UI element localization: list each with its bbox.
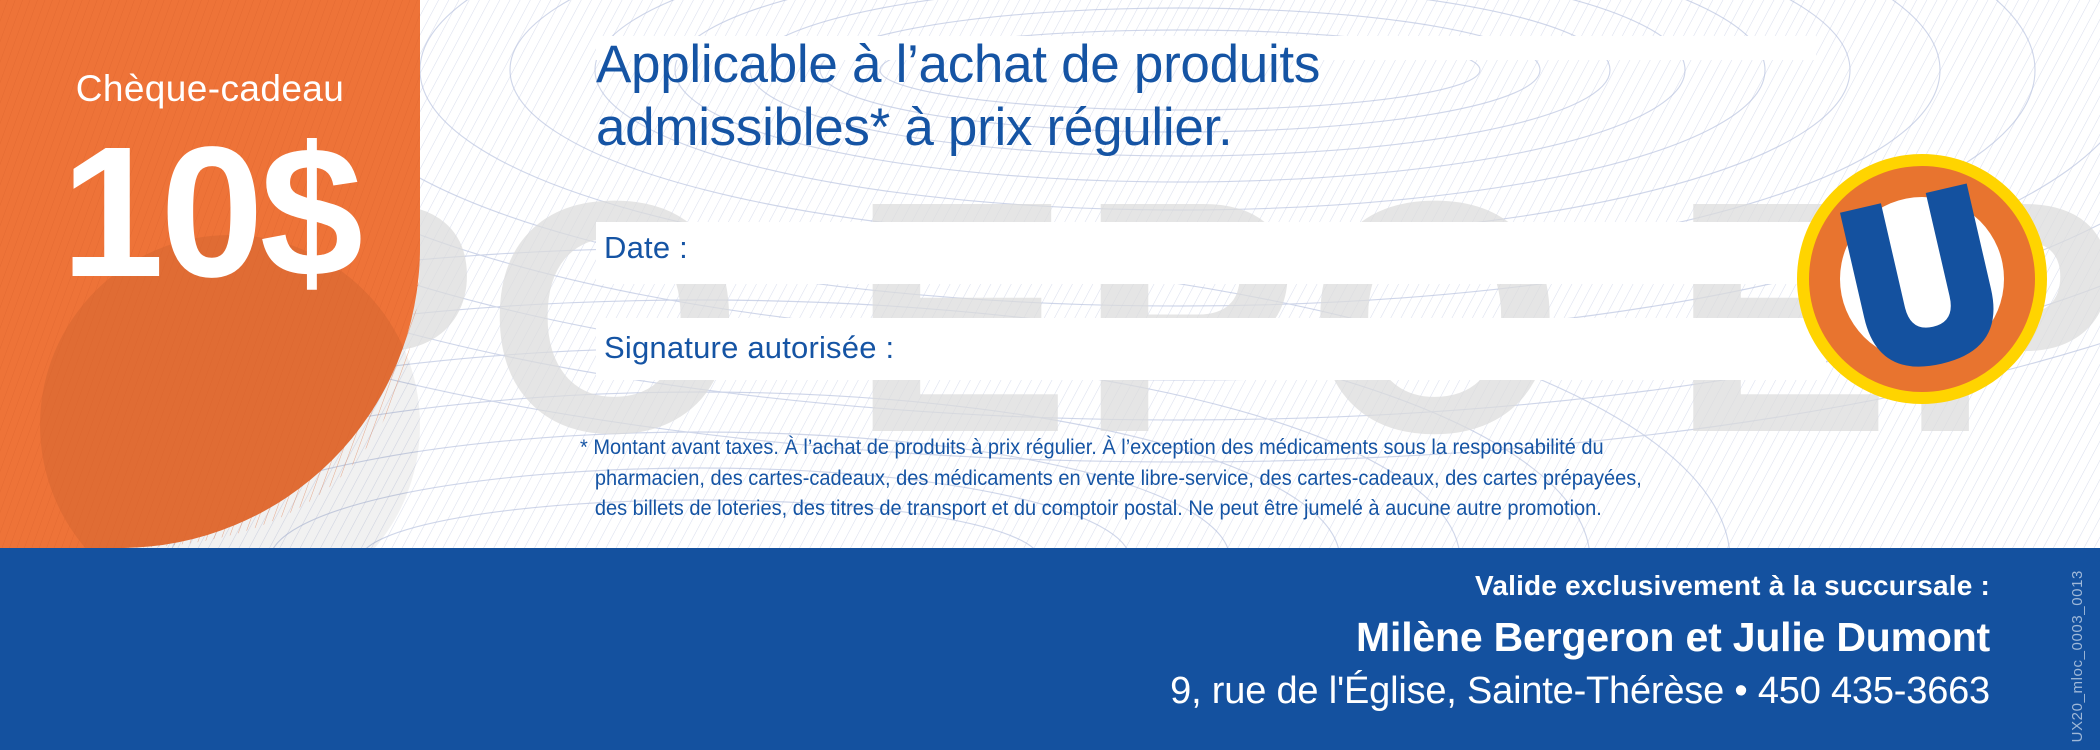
voucher-label: Chèque-cadeau xyxy=(0,68,420,110)
store-address: 9, rue de l'Église, Sainte-Thérèse • 450… xyxy=(1170,670,1990,713)
signature-label: Signature autorisée : xyxy=(604,330,894,366)
date-field-backdrop xyxy=(596,222,1826,284)
date-label: Date : xyxy=(604,230,688,266)
validity-label: Valide exclusivement à la succursale : xyxy=(1170,570,1990,602)
headline: Applicable à l’achat de produits admissi… xyxy=(596,34,1756,159)
uniprix-logo xyxy=(1795,152,2049,406)
fineprint: * Montant avant taxes. À l’achat de prod… xyxy=(580,432,1640,524)
fineprint-line-2: pharmacien, des cartes-cadeaux, des médi… xyxy=(580,463,1640,494)
voucher-amount: 10$ xyxy=(0,120,420,306)
logo-icon xyxy=(1795,152,2049,406)
gift-certificate: EPO EPO EPO Chèque-cadeau 10$ Applicable… xyxy=(0,0,2100,750)
headline-line-2: admissibles* à prix régulier. xyxy=(596,97,1756,160)
store-name: Milène Bergeron et Julie Dumont xyxy=(1170,614,1990,661)
reference-code: UX20_mloc_0003_0013 xyxy=(2069,570,2086,742)
fineprint-line-3: des billets de loteries, des titres de t… xyxy=(580,493,1640,524)
headline-line-1: Applicable à l’achat de produits xyxy=(596,34,1756,97)
fineprint-line-1: * Montant avant taxes. À l’achat de prod… xyxy=(580,432,1640,463)
footer-band: Valide exclusivement à la succursale : M… xyxy=(0,548,2100,750)
store-info: Valide exclusivement à la succursale : M… xyxy=(1170,548,1990,713)
